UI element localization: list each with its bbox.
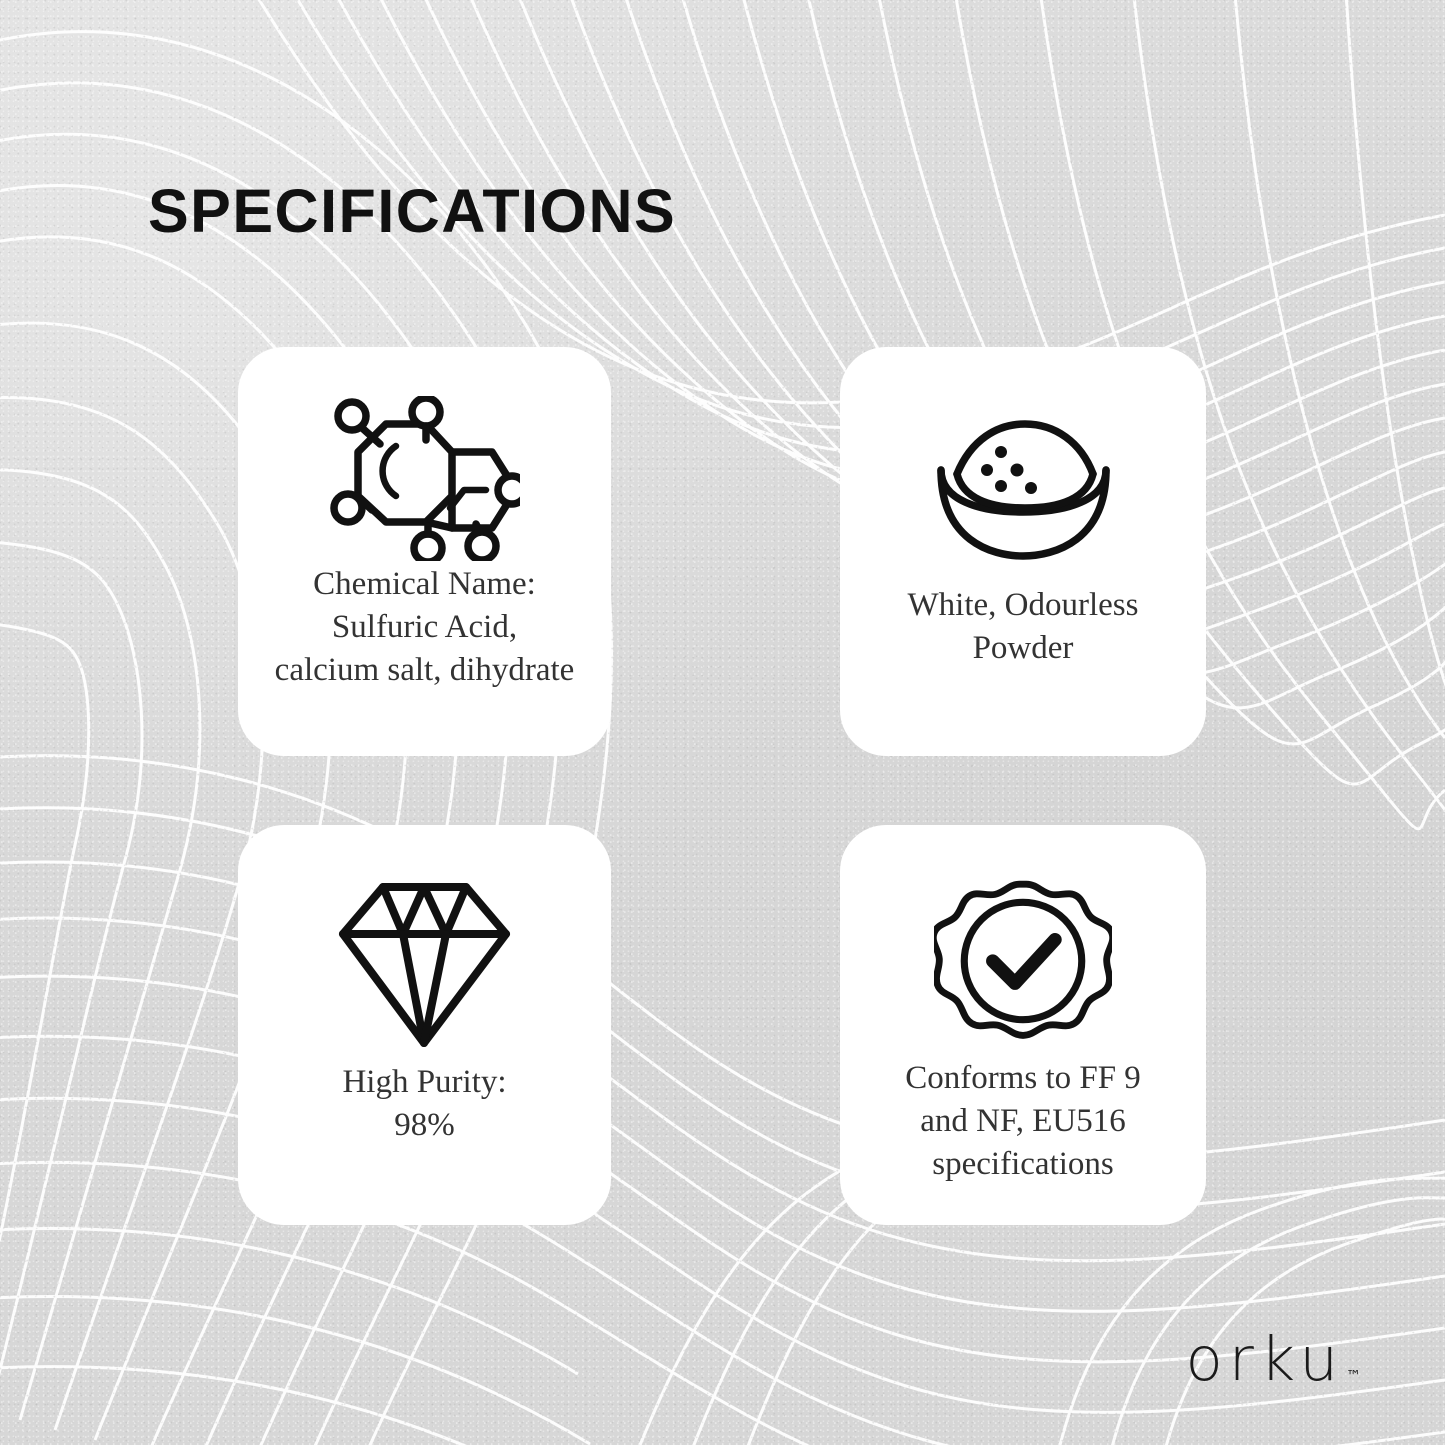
page-title: SPECIFICATIONS — [148, 181, 676, 242]
specifications-page: SPECIFICATIONS — [0, 0, 1445, 1445]
spec-card-chemical-name: Chemical Name: Sulfuric Acid, calcium sa… — [238, 347, 611, 756]
brand-wordmark: orku — [1185, 1329, 1344, 1390]
trademark-symbol: ™ — [1346, 1369, 1361, 1384]
spec-card-label: Chemical Name: Sulfuric Acid, calcium sa… — [238, 563, 611, 692]
spec-card-appearance: White, Odourless Powder — [840, 347, 1206, 756]
verified-badge-icon — [840, 825, 1206, 1055]
spec-card-label: White, Odourless Powder — [840, 584, 1206, 670]
spec-card-purity: High Purity: 98% — [238, 825, 611, 1225]
brand-logo: orku ™ — [1185, 1329, 1361, 1390]
spec-card-label: High Purity: 98% — [238, 1061, 611, 1147]
diamond-icon — [238, 825, 611, 1055]
spec-card-label: Conforms to FF 9 and NF, EU516 specifica… — [840, 1057, 1206, 1186]
molecule-icon — [238, 347, 611, 557]
spec-card-conformance: Conforms to FF 9 and NF, EU516 specifica… — [840, 825, 1206, 1225]
powder-bowl-icon — [840, 347, 1206, 562]
